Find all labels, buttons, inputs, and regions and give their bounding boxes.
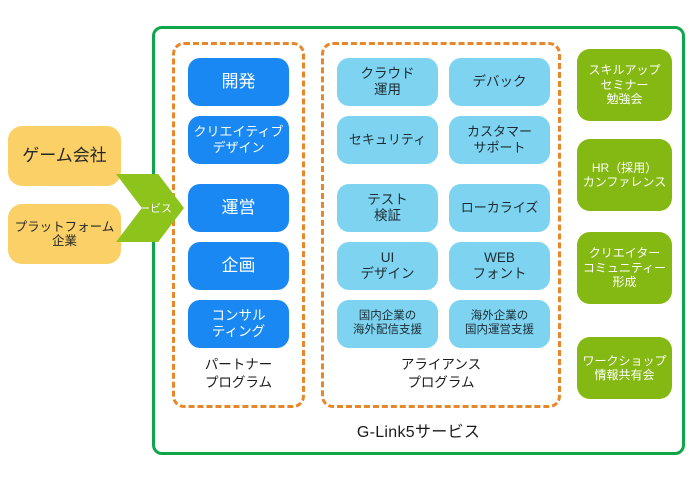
event-card-4-line2: 情報共有会 <box>594 368 654 382</box>
alliance-card-right-5-line1: 海外企業の <box>471 310 529 322</box>
partner-card-2-line1: クリエイティブ <box>194 124 284 139</box>
partner-card-2-line2: デザイン <box>212 140 264 155</box>
diagram-canvas: ゲーム会社 プラットフォーム 企業 サービス G-Link5サービス パートナー… <box>0 0 700 480</box>
event-card-4-line1: ワークショップ <box>582 354 666 368</box>
partner-card-2-label: クリエイティブ デザイン <box>194 124 284 155</box>
program-caption-partner-line2: プログラム <box>205 375 272 390</box>
partner-card-5-label: コンサル ティング <box>212 308 266 340</box>
client-box-game-company-label: ゲーム会社 <box>22 146 107 166</box>
partner-card-5[interactable]: コンサル ティング <box>188 300 289 348</box>
alliance-card-left-3-line1: テスト <box>367 192 408 207</box>
alliance-card-right-4-line1: WEB <box>484 250 515 265</box>
client-box-platform-company-label: プラットフォーム 企業 <box>15 220 115 249</box>
alliance-card-left-5[interactable]: 国内企業の 海外配信支援 <box>337 300 438 348</box>
alliance-card-right-1[interactable]: デバック <box>449 58 550 106</box>
event-card-1-label: スキルアップ セミナー 勉強会 <box>588 63 660 106</box>
event-card-2-label: HR（採用） カンファレンス <box>583 161 666 190</box>
alliance-card-left-2-line1: セキュリティ <box>349 132 426 147</box>
partner-card-3[interactable]: 運営 <box>188 184 289 232</box>
partner-card-4-line1: 企画 <box>222 256 256 275</box>
partner-card-1-label: 開発 <box>222 72 256 92</box>
client-box-game-company: ゲーム会社 <box>8 126 121 186</box>
partner-card-5-line2: ティング <box>212 324 265 339</box>
alliance-card-right-4-label: WEB フォント <box>473 250 527 282</box>
event-card-2[interactable]: HR（採用） カンファレンス <box>577 139 672 211</box>
alliance-card-right-1-line1: デバック <box>473 74 527 89</box>
event-card-3-label: クリエイター コミュニティー 形成 <box>583 246 666 289</box>
event-card-1-line2: セミナー <box>600 78 648 92</box>
alliance-card-left-4-label: UI デザイン <box>361 250 415 282</box>
alliance-card-left-5-line1: 国内企業の <box>359 310 417 322</box>
partner-card-4-label: 企画 <box>222 256 256 276</box>
alliance-card-right-5[interactable]: 海外企業の 国内運営支援 <box>449 300 550 348</box>
alliance-card-right-3-label: ローカライズ <box>461 200 539 216</box>
alliance-card-right-2-line2: サポート <box>473 140 525 155</box>
alliance-card-left-2[interactable]: セキュリティ <box>337 116 438 164</box>
client-platform-line2: 企業 <box>52 234 77 248</box>
alliance-card-right-5-label: 海外企業の 国内運営支援 <box>465 310 534 338</box>
event-card-3-line3: 形成 <box>612 275 636 289</box>
program-caption-alliance: アライアンス プログラム <box>321 356 561 392</box>
alliance-card-left-1-label: クラウド 運用 <box>361 66 415 98</box>
event-card-1[interactable]: スキルアップ セミナー 勉強会 <box>577 49 672 121</box>
partner-card-3-label: 運営 <box>222 198 256 218</box>
partner-card-2[interactable]: クリエイティブ デザイン <box>188 116 289 164</box>
event-card-2-line2: カンファレンス <box>583 175 666 189</box>
service-frame-title: G-Link5サービス <box>152 418 685 442</box>
event-card-2-line1: HR（採用） <box>592 161 657 175</box>
alliance-card-left-4-line2: デザイン <box>361 266 415 281</box>
event-card-3-line2: コミュニティー <box>583 261 666 275</box>
event-card-4-label: ワークショップ 情報共有会 <box>582 354 666 383</box>
alliance-card-right-3[interactable]: ローカライズ <box>449 184 550 232</box>
event-card-3-line1: クリエイター <box>589 246 661 260</box>
program-caption-alliance-line2: プログラム <box>407 375 474 390</box>
alliance-card-right-2-label: カスタマー サポート <box>467 124 532 155</box>
alliance-card-right-3-line1: ローカライズ <box>461 200 539 215</box>
alliance-card-left-3-label: テスト 検証 <box>367 192 408 224</box>
alliance-card-right-4-line2: フォント <box>473 266 527 281</box>
alliance-card-right-5-line2: 国内運営支援 <box>465 324 534 336</box>
partner-card-1-line1: 開発 <box>222 72 256 91</box>
alliance-card-right-2-line1: カスタマー <box>467 124 532 139</box>
program-caption-partner-line1: パートナー <box>205 357 273 372</box>
event-card-4[interactable]: ワークショップ 情報共有会 <box>577 337 672 399</box>
alliance-card-left-1[interactable]: クラウド 運用 <box>337 58 438 106</box>
alliance-card-right-1-label: デバック <box>473 74 527 90</box>
client-platform-line1: プラットフォーム <box>15 220 115 234</box>
program-caption-partner: パートナー プログラム <box>172 356 305 392</box>
partner-card-3-line1: 運営 <box>222 198 256 217</box>
service-arrow-label: サービス <box>128 200 172 216</box>
partner-card-5-line1: コンサル <box>212 308 266 323</box>
partner-card-4[interactable]: 企画 <box>188 242 289 290</box>
alliance-card-right-4[interactable]: WEB フォント <box>449 242 550 290</box>
alliance-card-left-4-line1: UI <box>381 250 395 265</box>
alliance-card-left-2-label: セキュリティ <box>349 132 426 148</box>
event-card-1-line1: スキルアップ <box>588 63 660 77</box>
alliance-card-left-1-line2: 運用 <box>374 82 401 97</box>
alliance-card-left-5-label: 国内企業の 海外配信支援 <box>353 310 422 338</box>
partner-card-1[interactable]: 開発 <box>188 58 289 106</box>
program-caption-alliance-line1: アライアンス <box>401 357 481 372</box>
client-box-platform-company: プラットフォーム 企業 <box>8 204 121 264</box>
alliance-card-left-5-line2: 海外配信支援 <box>353 324 422 336</box>
alliance-card-left-4[interactable]: UI デザイン <box>337 242 438 290</box>
event-card-3[interactable]: クリエイター コミュニティー 形成 <box>577 232 672 304</box>
event-card-1-line3: 勉強会 <box>606 92 642 106</box>
alliance-card-left-3-line2: 検証 <box>374 208 401 223</box>
alliance-card-left-3[interactable]: テスト 検証 <box>337 184 438 232</box>
alliance-card-left-1-line1: クラウド <box>361 66 415 81</box>
alliance-card-right-2[interactable]: カスタマー サポート <box>449 116 550 164</box>
